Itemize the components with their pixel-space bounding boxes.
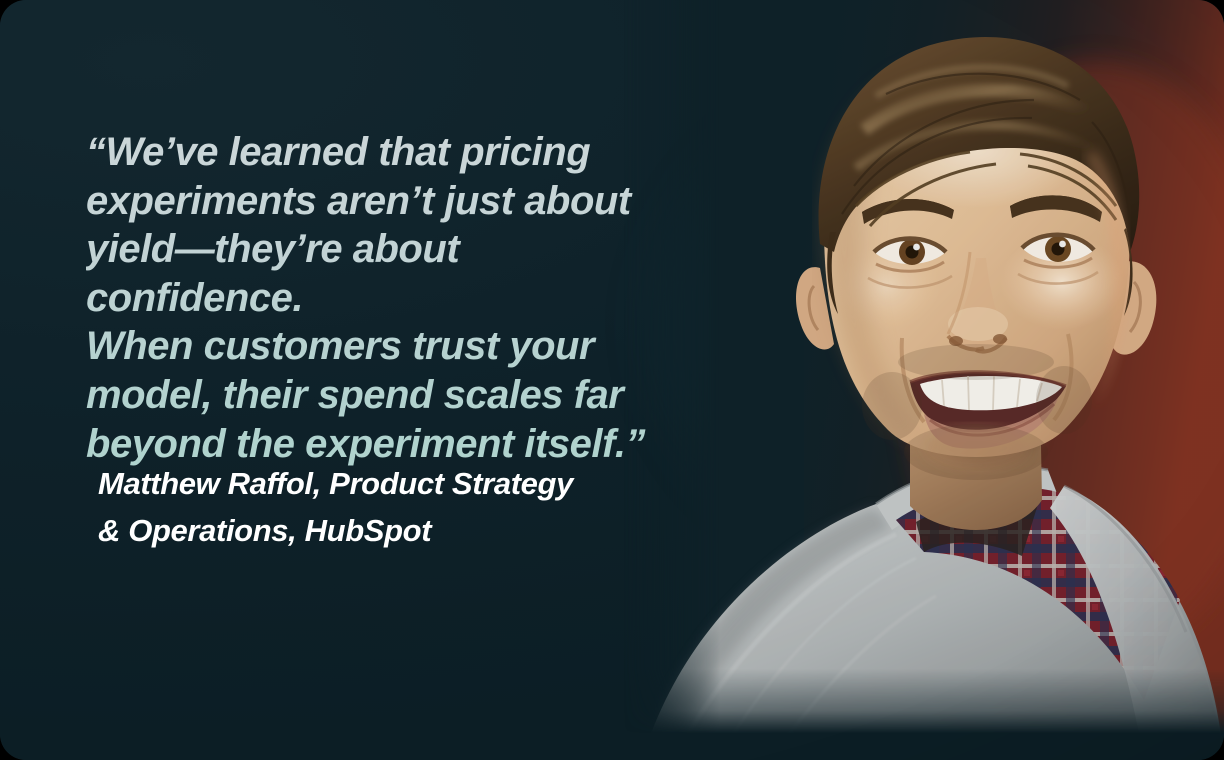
- quote-block: “We’ve learned that pricing experiments …: [86, 128, 686, 468]
- attribution-text: Matthew Raffol, Product Strategy & Opera…: [98, 460, 698, 554]
- customer-testimonial-card: “We’ve learned that pricing experiments …: [0, 0, 1224, 760]
- quote-text: “We’ve learned that pricing experiments …: [86, 128, 686, 468]
- portrait-photo: [624, 0, 1224, 760]
